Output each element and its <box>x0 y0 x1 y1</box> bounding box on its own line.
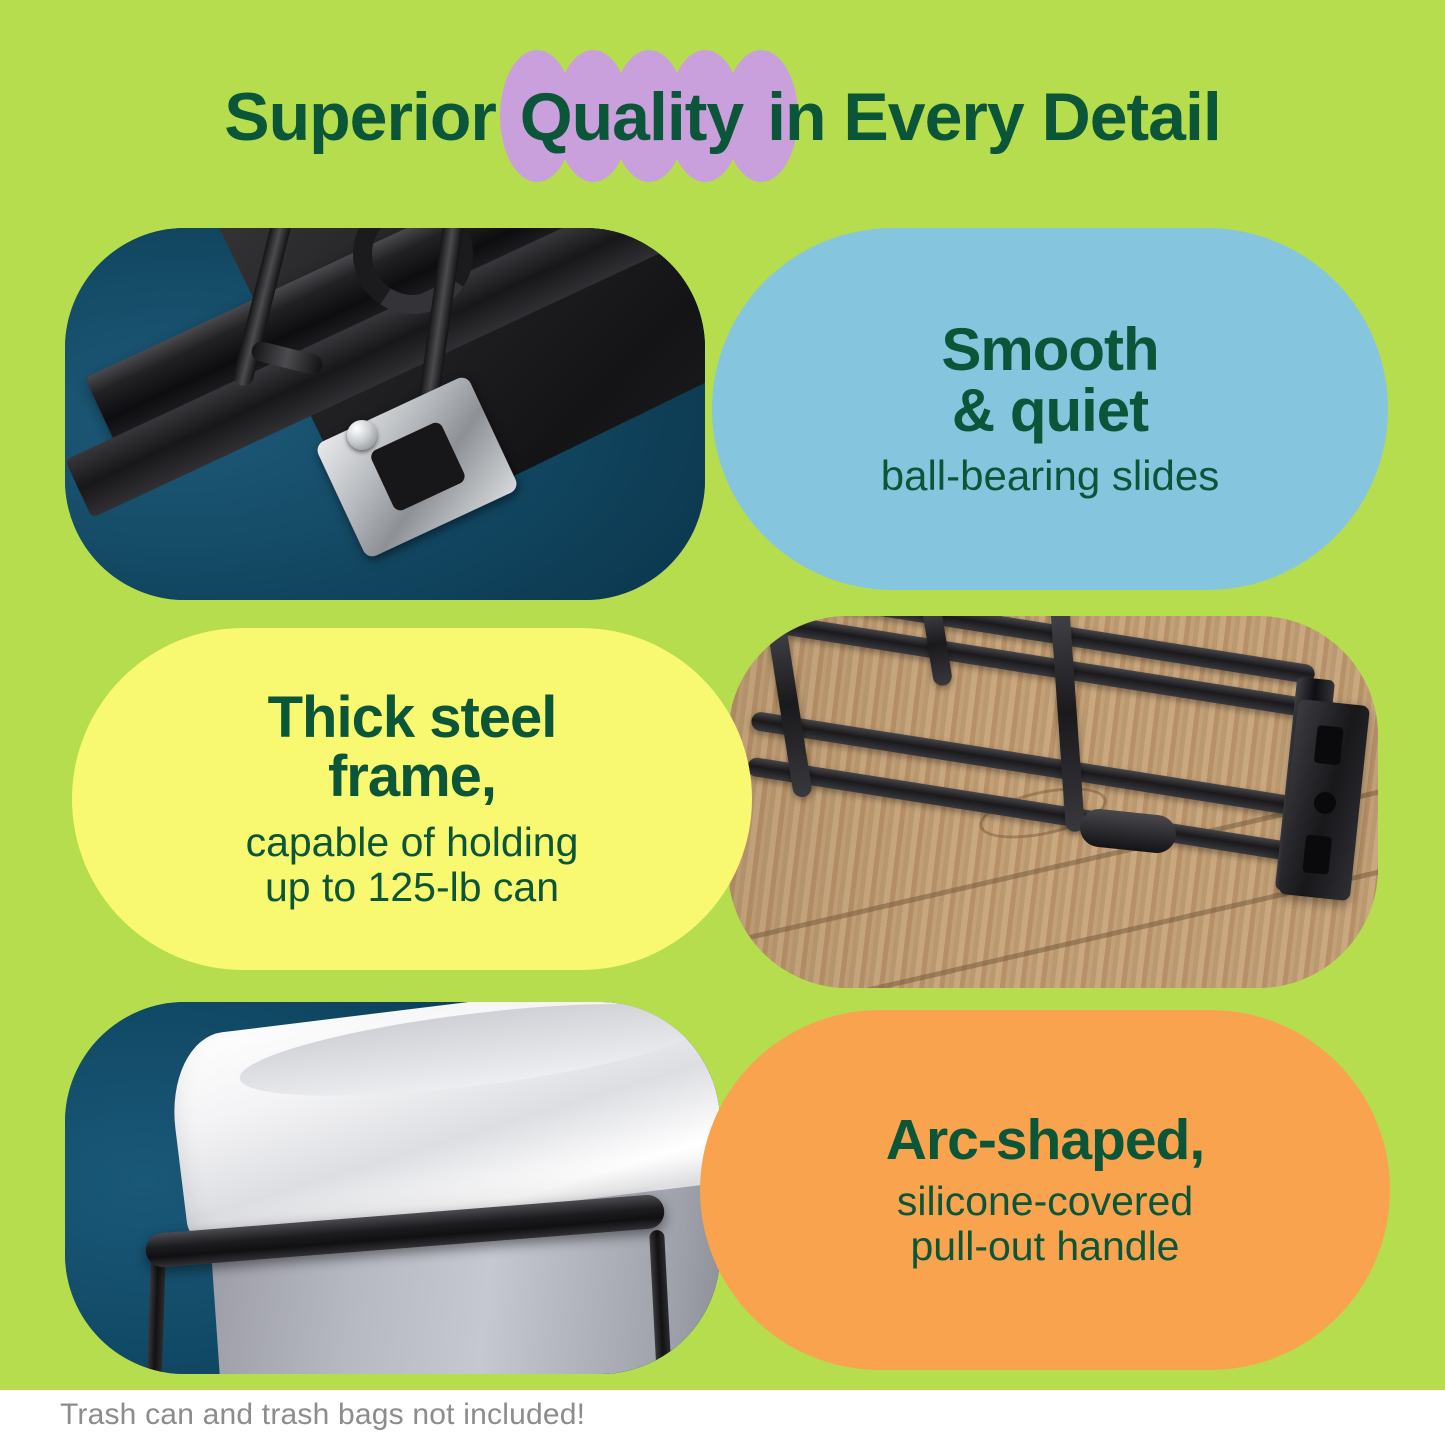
callout-subtitle: silicone-covered pull-out handle <box>897 1179 1193 1269</box>
callout-title: Arc-shaped, <box>886 1111 1204 1169</box>
callout-smooth-quiet: Smooth & quiet ball-bearing slides <box>712 228 1388 590</box>
feature-row-arc-shaped-handle: Arc-shaped, silicone-covered pull-out ha… <box>0 1002 1445 1374</box>
feature-row-thick-steel-frame: Thick steel frame, capable of holding up… <box>0 616 1445 988</box>
callout-title: Smooth & quiet <box>941 319 1158 441</box>
feature-photo-arc-handle <box>65 1002 720 1374</box>
page-title: Superior Quality in Every Detail <box>0 78 1445 156</box>
title-highlight-word: Quality <box>520 79 744 155</box>
title-part-before: Superior <box>224 79 514 155</box>
feature-photo-steel-frame <box>728 616 1378 988</box>
title-highlight-wrapper: Quality <box>514 78 750 156</box>
callout-arc-shaped-handle: Arc-shaped, silicone-covered pull-out ha… <box>700 1010 1390 1370</box>
bearing-ball <box>347 420 377 450</box>
feature-photo-ball-bearing-slide <box>65 228 705 600</box>
callout-title: Thick steel frame, <box>268 688 557 806</box>
footer-disclaimer: Trash can and trash bags not included! <box>60 1398 585 1432</box>
title-part-after: in Every Detail <box>749 79 1221 155</box>
infographic-canvas: Superior Quality in Every Detail Smooth … <box>0 0 1445 1445</box>
feature-row-smooth-quiet: Smooth & quiet ball-bearing slides <box>0 228 1445 600</box>
callout-thick-steel-frame: Thick steel frame, capable of holding up… <box>72 628 752 970</box>
callout-subtitle: ball-bearing slides <box>881 453 1220 499</box>
callout-subtitle: capable of holding up to 125-lb can <box>246 820 579 910</box>
